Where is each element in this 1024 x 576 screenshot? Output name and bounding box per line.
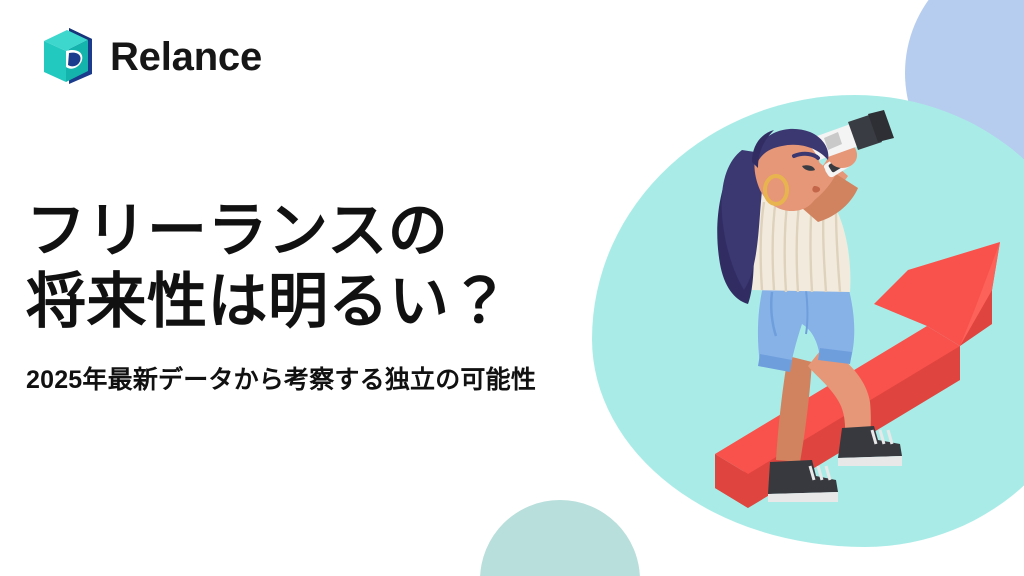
- brand-wordmark: Relance: [110, 37, 262, 77]
- hero-copy: フリーランスの 将来性は明るい？ 2025年最新データから考察する独立の可能性: [26, 196, 626, 396]
- headline-line-1: フリーランスの: [26, 196, 626, 267]
- page-subtitle: 2025年最新データから考察する独立の可能性: [26, 364, 626, 397]
- headline-line-2: 将来性は明るい？: [26, 267, 626, 338]
- brand-logo[interactable]: Relance: [36, 26, 262, 88]
- hero-banner: Relance フリーランスの 将来性は明るい？ 2025年最新データから考察す…: [0, 0, 1024, 576]
- relance-cube-logo-icon: [36, 26, 98, 88]
- hero-illustration: [660, 110, 1024, 530]
- page-title: フリーランスの 将来性は明るい？: [26, 196, 626, 338]
- mint-circle-decoration: [480, 500, 640, 576]
